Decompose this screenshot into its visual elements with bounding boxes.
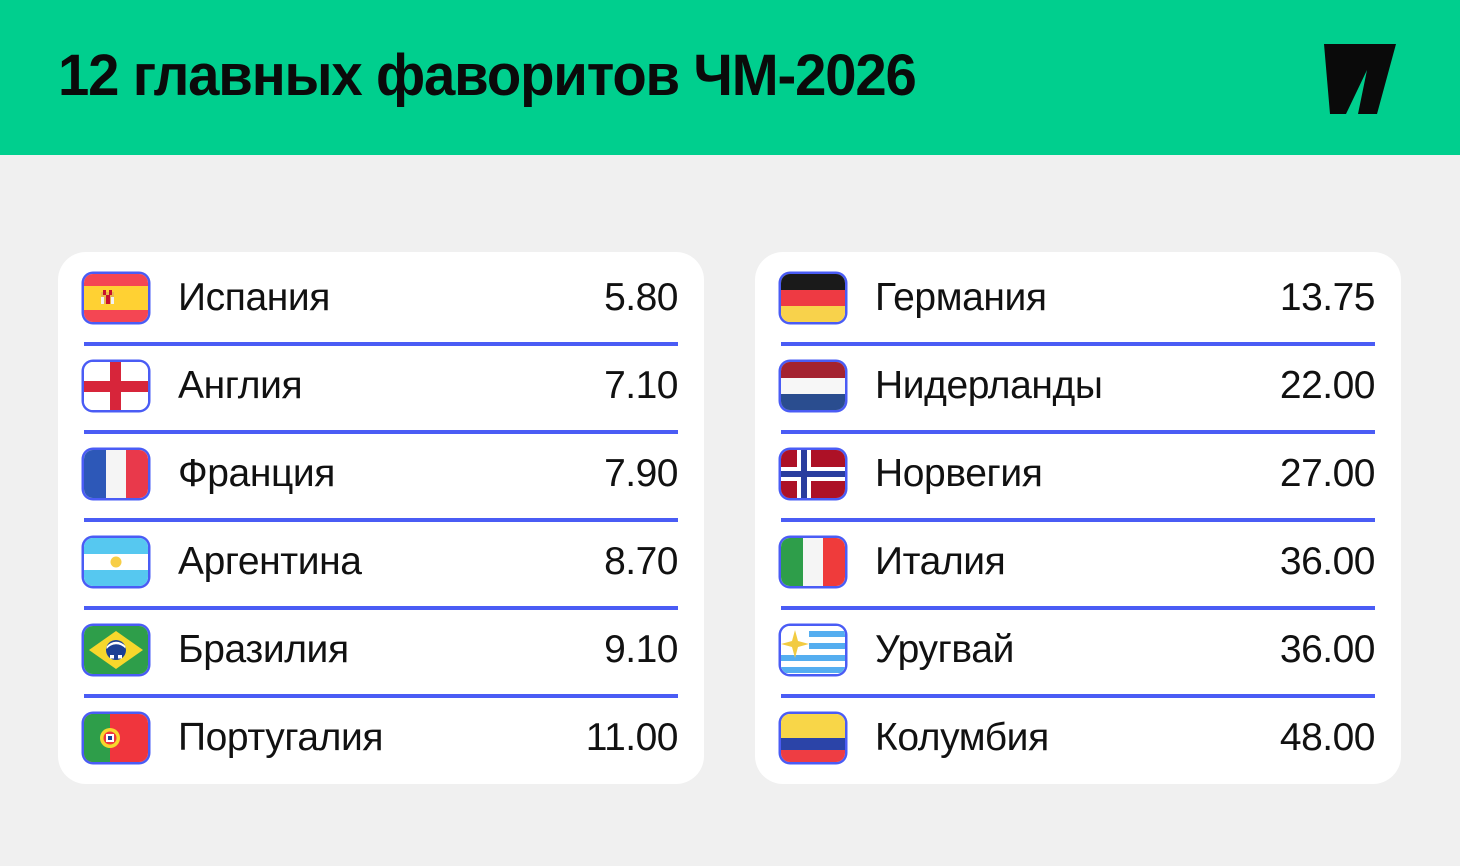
- flag-colombia-icon: [781, 714, 845, 762]
- table-row[interactable]: Уругвай 36.00: [781, 606, 1375, 694]
- country-name: Франция: [178, 452, 604, 496]
- country-name: Аргентина: [178, 540, 604, 584]
- odds-value: 11.00: [586, 716, 678, 760]
- country-name: Колумбия: [875, 716, 1280, 760]
- header-bar: 12 главных фаворитов ЧМ-2026: [0, 0, 1460, 155]
- country-name: Норвегия: [875, 452, 1280, 496]
- favorites-card-right: Германия 13.75 Нидерланды 22.00 Норвегия…: [755, 252, 1401, 784]
- odds-value: 8.70: [604, 540, 678, 584]
- flag-spain-icon: [84, 274, 148, 322]
- odds-value: 13.75: [1280, 276, 1375, 320]
- odds-value: 9.10: [604, 628, 678, 672]
- table-row[interactable]: Норвегия 27.00: [781, 430, 1375, 518]
- favorites-card-left: Испания 5.80 Англия 7.10 Франция 7.90: [58, 252, 704, 784]
- table-row[interactable]: Португалия 11.00: [84, 694, 678, 782]
- odds-value: 36.00: [1280, 540, 1375, 584]
- table-row[interactable]: Бразилия 9.10: [84, 606, 678, 694]
- odds-value: 27.00: [1280, 452, 1375, 496]
- flag-uruguay-icon: [781, 626, 845, 674]
- table-row[interactable]: Нидерланды 22.00: [781, 342, 1375, 430]
- flag-argentina-icon: [84, 538, 148, 586]
- sports-ru-logo: [1320, 42, 1400, 116]
- flag-germany-icon: [781, 274, 845, 322]
- flag-italy-icon: [781, 538, 845, 586]
- table-row[interactable]: Франция 7.90: [84, 430, 678, 518]
- table-row[interactable]: Испания 5.80: [84, 254, 678, 342]
- country-name: Англия: [178, 364, 604, 408]
- flag-norway-icon: [781, 450, 845, 498]
- table-row[interactable]: Колумбия 48.00: [781, 694, 1375, 782]
- odds-value: 36.00: [1280, 628, 1375, 672]
- table-row[interactable]: Италия 36.00: [781, 518, 1375, 606]
- country-name: Италия: [875, 540, 1280, 584]
- flag-portugal-icon: [84, 714, 148, 762]
- table-row[interactable]: Аргентина 8.70: [84, 518, 678, 606]
- odds-value: 7.10: [604, 364, 678, 408]
- flag-netherlands-icon: [781, 362, 845, 410]
- odds-value: 7.90: [604, 452, 678, 496]
- table-row[interactable]: Германия 13.75: [781, 254, 1375, 342]
- flag-brazil-icon: [84, 626, 148, 674]
- odds-value: 5.80: [604, 276, 678, 320]
- country-name: Португалия: [178, 716, 586, 760]
- odds-value: 22.00: [1280, 364, 1375, 408]
- flag-england-icon: [84, 362, 148, 410]
- country-name: Испания: [178, 276, 604, 320]
- table-row[interactable]: Англия 7.10: [84, 342, 678, 430]
- country-name: Германия: [875, 276, 1280, 320]
- country-name: Нидерланды: [875, 364, 1280, 408]
- flag-france-icon: [84, 450, 148, 498]
- page-title: 12 главных фаворитов ЧМ-2026: [58, 47, 916, 105]
- odds-value: 48.00: [1280, 716, 1375, 760]
- country-name: Бразилия: [178, 628, 604, 672]
- country-name: Уругвай: [875, 628, 1280, 672]
